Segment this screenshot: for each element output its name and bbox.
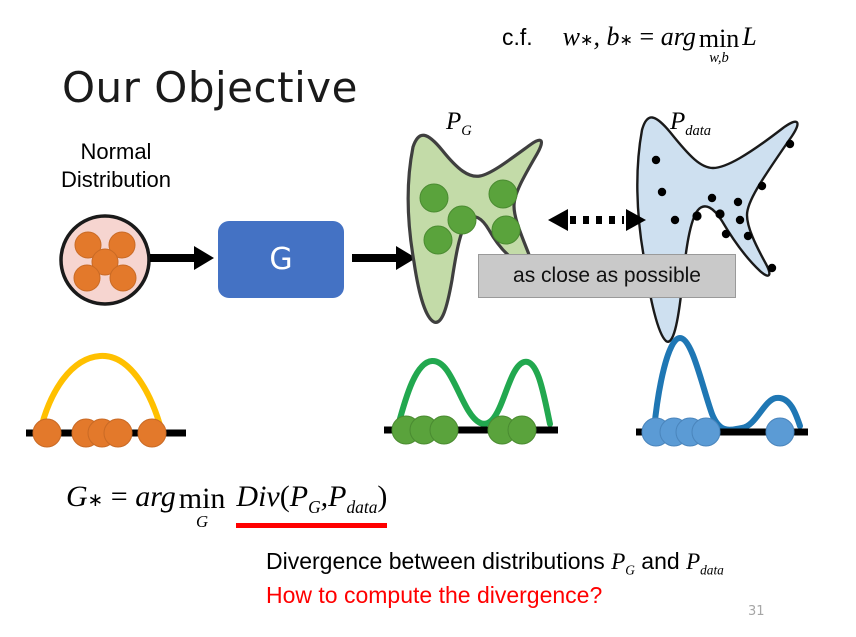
cf-w: w [563,22,580,52]
objective-formula: G∗ = arg min G Div(PG,Pdata) [66,480,387,527]
objective-equals: = [111,480,128,514]
divergence-p1-subscript: G [625,563,635,578]
pdata-label-subscript: data [685,123,711,139]
generator-label: G [269,242,292,277]
objective-min-subscript: G [196,514,208,530]
pdata-label-p: P [670,108,685,135]
divergence-pre-text: Divergence between distributions [266,548,611,574]
objective-star: ∗ [88,490,104,512]
cf-arg: arg [661,22,696,52]
pdata-distribution-chart [632,330,842,460]
generator-box[interactable]: G [218,221,344,298]
cf-min-subscript: w,b [709,52,729,66]
divergence-p1: P [611,549,625,574]
div-text: Div [236,480,279,513]
objective-min-stack: min G [179,485,226,529]
double-headed-dotted-arrow-icon [548,205,646,240]
pdata-distribution-blob [620,108,820,358]
pg-distribution-chart [382,340,592,455]
pdata-label: Pdata [670,108,711,140]
cf-comma: , [594,22,601,52]
divergence-description-line: Divergence between distributions PG and … [266,548,724,579]
div-p2-subscript: data [346,497,377,517]
divergence-red-underline [236,523,387,528]
objective-g: G [66,480,88,514]
pg-label-p: P [446,108,461,135]
objective-arg: arg [135,480,176,514]
page-number: 31 [748,604,765,619]
objective-min: min [179,485,226,514]
div-p2: P [328,480,346,513]
cf-loss: L [742,22,756,52]
divergence-p2: P [686,549,700,574]
page-title: Our Objective [62,63,358,112]
cf-formula: c.f. w∗, b∗ = arg min w,b L [502,22,757,64]
how-to-compute-question: How to compute the divergence? [266,582,602,609]
cf-b: b [607,22,620,52]
divergence-term: Div(PG,Pdata) [236,480,387,521]
as-close-as-possible-box: as close as possible [478,254,736,298]
pg-distribution-blob [390,112,555,332]
cf-min-stack: min w,b [699,27,739,66]
pg-label: PG [446,108,472,140]
slide-canvas: Our Objective c.f. w∗, b∗ = arg min w,b … [0,0,856,637]
cf-math-expression: w∗, b∗ = arg min w,b L [563,22,757,64]
div-p1-subscript: G [308,497,321,517]
normal-distribution-chart [22,340,222,455]
div-open-paren: ( [280,480,290,513]
div-p1: P [290,480,308,513]
div-close-paren: ) [377,480,387,513]
cf-star-2: ∗ [620,30,634,50]
as-close-as-possible-label: as close as possible [513,264,701,288]
divergence-p2-subscript: data [700,563,724,578]
cf-equals: = [640,22,655,52]
cf-label: c.f. [502,24,533,51]
normal-label-line2: Distribution [36,166,196,194]
normal-label-line1: Normal [36,138,196,166]
normal-distribution-circle [57,212,153,313]
divergence-mid-text: and [635,548,686,574]
arrow-normal-to-g-icon [150,243,216,278]
pg-label-subscript: G [461,123,471,139]
cf-min: min [699,27,739,52]
cf-star-1: ∗ [580,30,594,50]
normal-distribution-label: Normal Distribution [36,138,196,194]
